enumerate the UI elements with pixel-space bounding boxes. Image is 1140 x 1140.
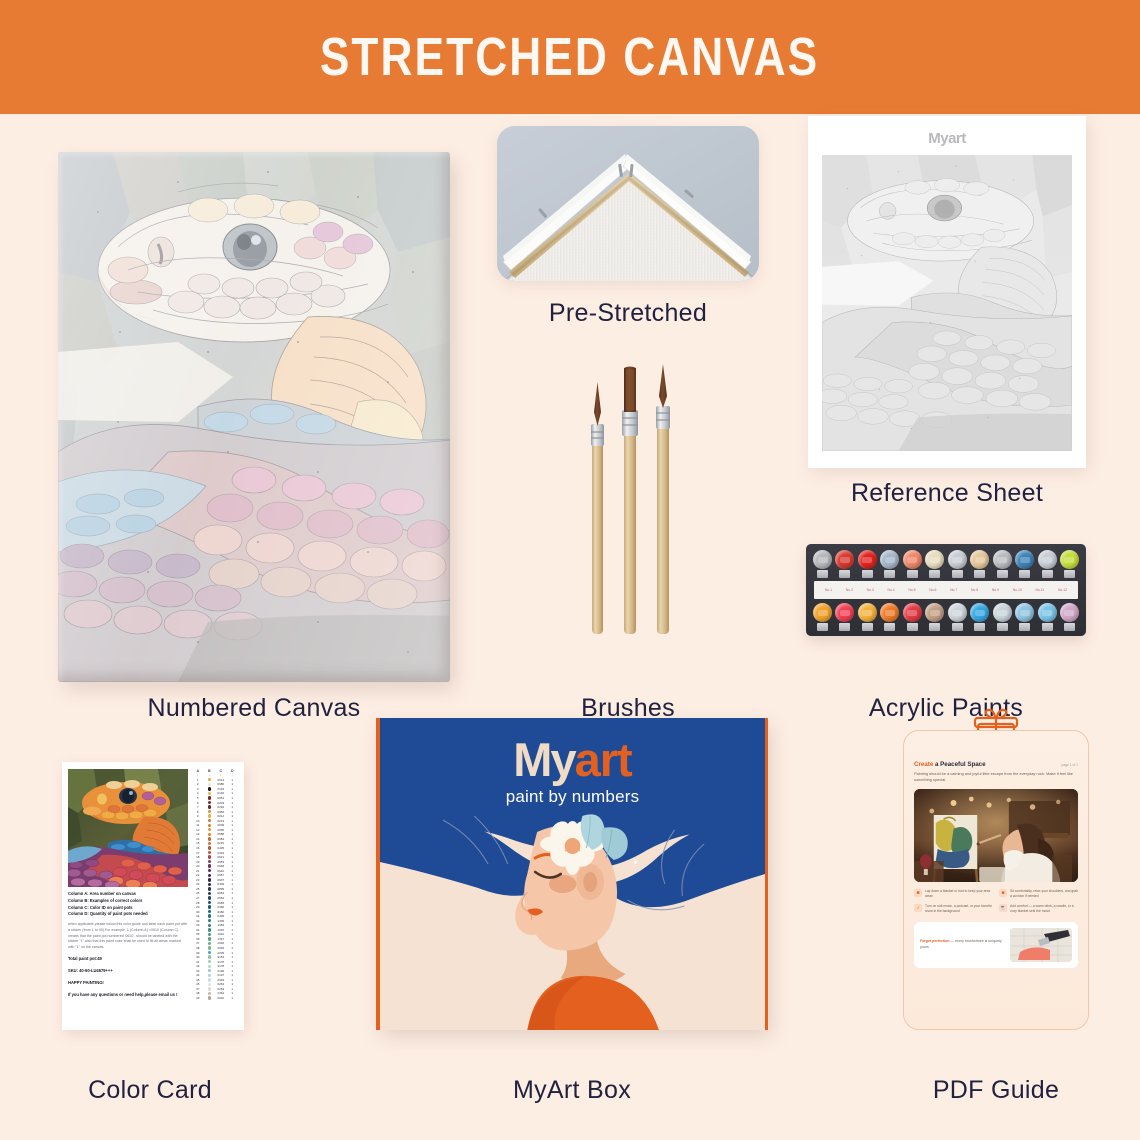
pdf-guide-heading: Create a Peaceful Space page 1 of 1	[914, 761, 1078, 768]
color-swatch-dot	[208, 924, 211, 927]
canvas-corner-illustration	[497, 126, 759, 281]
color-swatch-dot	[208, 819, 211, 822]
paint-pot-tab	[1019, 623, 1030, 631]
color-row-swatch	[204, 955, 216, 958]
color-row-qty: 1	[227, 869, 239, 873]
paint-pot-lid	[1038, 603, 1057, 622]
color-row-qty: 1	[227, 810, 239, 814]
color-row-area: 47	[192, 987, 204, 991]
color-row-swatch	[204, 783, 216, 786]
color-row-swatch	[204, 842, 216, 845]
product-pre-stretched[interactable]	[497, 126, 759, 306]
color-swatch-dot	[208, 992, 211, 995]
color-row-swatch	[204, 910, 216, 913]
color-row-area: 9	[192, 814, 204, 818]
color-row-swatch	[204, 937, 216, 940]
paint-pot[interactable]	[1015, 550, 1034, 577]
color-row-qty: 1	[227, 960, 239, 964]
paint-pot-lid	[903, 550, 922, 569]
pdf-tip-icon: ■	[914, 889, 922, 897]
color-row-swatch	[204, 864, 216, 867]
color-row-qty: 1	[227, 964, 239, 968]
color-row-id: 0009	[215, 823, 227, 827]
color-row-area: 44	[192, 973, 204, 977]
paint-pot-lid	[1015, 603, 1034, 622]
paint-pot-tab	[1019, 570, 1030, 578]
paint-pot-tab	[839, 623, 850, 631]
paint-pot[interactable]	[993, 550, 1012, 577]
color-row-qty: 1	[227, 969, 239, 973]
pdf-tip-text: Turn on soft music, a podcast, or your f…	[925, 904, 993, 914]
color-row-area: 23	[192, 878, 204, 882]
color-swatch-dot	[208, 883, 211, 886]
color-swatch-dot	[208, 892, 211, 895]
color-row-id: 1359	[215, 923, 227, 927]
paint-pot-lid	[948, 603, 967, 622]
color-row-swatch	[204, 969, 216, 972]
color-row-area: 19	[192, 860, 204, 864]
color-row-qty: 1	[227, 928, 239, 932]
color-row-id: 0654	[215, 896, 227, 900]
snake-color-artwork	[68, 769, 188, 887]
color-row-area: 29	[192, 905, 204, 909]
color-row-area: 28	[192, 901, 204, 905]
color-row-id: 2002	[215, 941, 227, 945]
color-swatch-dot	[208, 842, 211, 845]
color-swatch-dot	[208, 965, 211, 968]
color-row-swatch	[204, 805, 216, 808]
logo-art-text: art	[575, 733, 632, 786]
color-row-swatch	[204, 992, 216, 995]
pdf-tip-text: Add comfort — a warm drink, a candle, or…	[1010, 904, 1078, 914]
paint-pot-tab	[907, 623, 918, 631]
paint-pot-lid	[835, 603, 854, 622]
color-row-area: 24	[192, 882, 204, 886]
paint-pot-lid	[813, 603, 832, 622]
reference-sheet-logo: Myart	[822, 130, 1072, 147]
color-card-table: ABCD ↓ ↓ ↓ ↓ 106131209801301341401461500…	[192, 769, 238, 1023]
color-swatch-dot	[208, 978, 211, 981]
caption-pdf-guide: PDF Guide	[900, 1076, 1092, 1105]
color-row-area: 45	[192, 978, 204, 982]
color-row-swatch	[204, 919, 216, 922]
color-swatch-dot	[208, 801, 211, 804]
brush-flat-wide	[622, 367, 638, 635]
color-row-swatch	[204, 928, 216, 931]
paint-pot[interactable]	[903, 603, 922, 630]
color-row-qty: 1	[227, 932, 239, 936]
color-row-id: 0215	[215, 841, 227, 845]
color-swatch-dot	[208, 833, 211, 836]
paint-pot[interactable]	[1060, 550, 1079, 577]
color-row-swatch	[204, 828, 216, 831]
legend-line-b: Column B: Examples of correct colors	[68, 898, 188, 905]
color-row-id: 0895	[215, 887, 227, 891]
color-row-area: 48	[192, 991, 204, 995]
color-row-id: 2049	[215, 978, 227, 982]
paint-pot[interactable]	[858, 550, 877, 577]
paint-label-code: No.2	[846, 588, 853, 592]
color-row-qty: 1	[227, 778, 239, 782]
reference-sheet-paper: Myart	[808, 116, 1086, 468]
myart-box-subtitle: paint by numbers	[380, 787, 765, 807]
color-swatch-dot	[208, 874, 211, 877]
color-row-qty: 1	[227, 851, 239, 855]
color-row-qty: 1	[227, 941, 239, 945]
color-row-qty: 1	[227, 882, 239, 886]
paint-pot[interactable]	[925, 550, 944, 577]
paint-pot[interactable]	[970, 603, 989, 630]
paint-pot-lid	[993, 603, 1012, 622]
paint-pot-tab	[817, 623, 828, 631]
color-row-qty: 1	[227, 891, 239, 895]
paint-pot[interactable]	[970, 550, 989, 577]
color-row-qty: 1	[227, 987, 239, 991]
paint-label-code: No.8	[971, 588, 978, 592]
color-swatch-dot	[208, 974, 211, 977]
color-row-id: 2005	[215, 951, 227, 955]
color-row-swatch	[204, 983, 216, 986]
snake-pbn-artwork	[58, 152, 450, 682]
pdf-tip-item: ☕Add comfort — a warm drink, a candle, o…	[999, 904, 1078, 914]
color-row-id: 0012	[215, 814, 227, 818]
color-row-id: 0942	[215, 869, 227, 873]
color-card-artwork	[68, 769, 188, 887]
paint-tray: No.1No.2No.3No.4No.5No.6No.7No.8No.9No.1…	[806, 544, 1086, 636]
paint-pot-row-top	[811, 550, 1081, 577]
pdf-guide-photo	[914, 789, 1078, 882]
paint-pot[interactable]	[925, 603, 944, 630]
color-swatch-dot	[208, 933, 211, 936]
color-row-qty: 1	[227, 951, 239, 955]
color-row-area: 14	[192, 837, 204, 841]
paint-pot-tab	[952, 623, 963, 631]
color-row-area: 41	[192, 960, 204, 964]
color-row-area: 6	[192, 801, 204, 805]
color-row-area: 1	[192, 778, 204, 782]
color-row-area: 33	[192, 923, 204, 927]
paint-pot[interactable]	[835, 603, 854, 630]
paint-pot-tab	[817, 570, 828, 578]
color-row-swatch	[204, 833, 216, 836]
legend-line-d: Column D: Quantity of paint pots needed	[68, 911, 188, 918]
color-row-id: 2010	[215, 996, 227, 1000]
color-row-id: 2049	[215, 946, 227, 950]
paint-pot[interactable]	[1015, 603, 1034, 630]
color-row-qty: 1	[227, 973, 239, 977]
pdf-tip-item: ♪Turn on soft music, a podcast, or your …	[914, 904, 993, 914]
color-swatch-dot	[208, 910, 211, 913]
pdf-tip-icon: ■	[999, 889, 1007, 897]
color-row-area: 16	[192, 846, 204, 850]
color-row-area: 22	[192, 873, 204, 877]
color-row-swatch	[204, 914, 216, 917]
color-row-id: 0588	[215, 832, 227, 836]
color-row-qty: 1	[227, 919, 239, 923]
color-row-swatch	[204, 987, 216, 990]
product-acrylic-paints[interactable]: No.1No.2No.3No.4No.5No.6No.7No.8No.9No.1…	[806, 544, 1086, 684]
paint-pot-lid	[880, 603, 899, 622]
color-row-id: 1315	[215, 928, 227, 932]
color-row-area: 17	[192, 851, 204, 855]
color-row-qty: 1	[227, 791, 239, 795]
color-row-area: 4	[192, 791, 204, 795]
color-row-swatch	[204, 901, 216, 904]
paint-pot-lid	[1015, 550, 1034, 569]
pdf-guide-content: Create a Peaceful Space page 1 of 1 Pain…	[914, 761, 1078, 968]
paint-pot[interactable]	[993, 603, 1012, 630]
color-row-id: 0953	[215, 860, 227, 864]
color-row-swatch	[204, 978, 216, 981]
color-row-area: 31	[192, 914, 204, 918]
color-row-qty: 1	[227, 787, 239, 791]
paint-pot[interactable]	[948, 550, 967, 577]
paint-pot[interactable]	[880, 550, 899, 577]
color-row-swatch	[204, 819, 216, 822]
color-row-swatch	[204, 942, 216, 945]
color-row-qty: 1	[227, 855, 239, 859]
paint-pot[interactable]	[880, 603, 899, 630]
color-row-qty: 1	[227, 982, 239, 986]
color-row-area: 46	[192, 982, 204, 986]
color-swatch-dot	[208, 864, 211, 867]
color-swatch-dot	[208, 814, 211, 817]
color-row-qty: 1	[227, 946, 239, 950]
paint-pot-tab	[1042, 623, 1053, 631]
color-row-id: 0482	[215, 910, 227, 914]
color-row-id: 1912	[215, 932, 227, 936]
color-card-legend: Column A: Area number on canvas Column B…	[68, 891, 188, 999]
color-swatch-dot	[208, 905, 211, 908]
woman-painting-photo	[914, 789, 1078, 882]
color-card-paragraph: when applicable,please follow this color…	[68, 922, 188, 951]
myart-box-lid: Myart paint by numbers	[376, 718, 768, 1030]
color-swatch-dot	[208, 846, 211, 849]
color-row-area: 42	[192, 964, 204, 968]
color-row-qty: 1	[227, 914, 239, 918]
pdf-tip-text: Sit comfortably, relax your shoulders, a…	[1010, 889, 1078, 899]
paint-pot-lid	[970, 550, 989, 569]
color-row-id: 0980	[215, 782, 227, 786]
paint-pot-lid	[970, 603, 989, 622]
paint-pot[interactable]	[813, 550, 832, 577]
product-pdf-guide[interactable]: Create a Peaceful Space page 1 of 1 Pain…	[903, 730, 1089, 1092]
paint-pot[interactable]	[948, 603, 967, 630]
color-row-id: 2196	[215, 969, 227, 973]
color-row-swatch	[204, 851, 216, 854]
paint-pot-lid	[903, 603, 922, 622]
paint-pot-lid	[1060, 550, 1079, 569]
paint-pot-tab	[884, 623, 895, 631]
color-row-area: 12	[192, 828, 204, 832]
product-color-card[interactable]: Column A: Area number on canvas Column B…	[62, 762, 244, 1092]
color-row-id: 0621	[215, 855, 227, 859]
paint-pot-lid	[858, 603, 877, 622]
color-row-area: 25	[192, 887, 204, 891]
color-row-id: 1327	[215, 937, 227, 941]
color-row-swatch	[204, 837, 216, 840]
color-row-swatch	[204, 874, 216, 877]
color-swatch-dot	[208, 805, 211, 808]
paint-label-code: No.3	[867, 588, 874, 592]
color-row-swatch	[204, 974, 216, 977]
color-row-qty: 1	[227, 860, 239, 864]
color-row-id: 0263	[215, 982, 227, 986]
color-swatch-dot	[208, 919, 211, 922]
color-row-swatch	[204, 787, 216, 790]
color-row-qty: 1	[227, 923, 239, 927]
color-swatch-dot	[208, 960, 211, 963]
pdf-note-highlight: Forget perfection	[920, 939, 950, 943]
brush-stroke-photo	[1010, 928, 1072, 962]
color-row-swatch	[204, 965, 216, 968]
caption-reference-sheet: Reference Sheet	[808, 479, 1086, 508]
color-swatch-dot	[208, 855, 211, 858]
color-row-qty: 1	[227, 828, 239, 832]
color-swatch-dot	[208, 824, 211, 827]
paint-pot[interactable]	[903, 550, 922, 577]
caption-color-card: Color Card	[30, 1076, 270, 1105]
color-row-area: 26	[192, 891, 204, 895]
myart-logo: Myart	[380, 732, 765, 787]
color-row-id: 0203	[215, 801, 227, 805]
paint-label-code: No.10	[1013, 588, 1022, 592]
product-myart-box[interactable]: Myart paint by numbers	[376, 718, 768, 1093]
color-row-id: 0084	[215, 837, 227, 841]
color-row-qty: 1	[227, 901, 239, 905]
product-numbered-canvas[interactable]	[58, 152, 450, 682]
color-row-swatch	[204, 846, 216, 849]
color-row-swatch	[204, 878, 216, 881]
paint-pot-row-bottom	[811, 603, 1081, 630]
product-brushes[interactable]	[500, 354, 756, 654]
paint-label-code: No.9	[992, 588, 999, 592]
color-row-area: 27	[192, 896, 204, 900]
pdf-guide-note: Forget perfection — every brushstroke is…	[914, 922, 1078, 968]
color-row-qty: 1	[227, 905, 239, 909]
pdf-tip-text: Lay down a blanket or mat to keep your a…	[925, 889, 993, 899]
paint-label-code: No.11	[1035, 588, 1044, 592]
color-row-id: 3176	[215, 960, 227, 964]
paint-label-code: No.6	[929, 588, 936, 592]
color-row-swatch	[204, 796, 216, 799]
paint-pot[interactable]	[1060, 603, 1079, 630]
caption-acrylic-paints: Acrylic Paints	[806, 694, 1086, 723]
color-row-area: 36	[192, 937, 204, 941]
paint-pot-tab	[952, 570, 963, 578]
color-row-qty: 1	[227, 796, 239, 800]
color-swatch-dot	[208, 937, 211, 940]
color-row-qty: 1	[227, 978, 239, 982]
color-row-area: 34	[192, 928, 204, 932]
color-row-swatch	[204, 824, 216, 827]
color-row-swatch	[204, 855, 216, 858]
page-header: STRETCHED CANVAS	[0, 0, 1140, 114]
color-row-area: 18	[192, 855, 204, 859]
pdf-note-image	[1010, 928, 1072, 962]
color-row-qty: 1	[227, 864, 239, 868]
pdf-heading-rest: a Peaceful Space	[933, 761, 985, 768]
color-row-area: 7	[192, 805, 204, 809]
paint-pot-lid	[925, 603, 944, 622]
color-row-swatch	[204, 792, 216, 795]
paint-pot[interactable]	[835, 550, 854, 577]
color-swatch-dot	[208, 787, 211, 790]
color-row-area: 15	[192, 841, 204, 845]
color-row-id: 2197	[215, 973, 227, 977]
brush-round-fine	[656, 364, 670, 634]
brushes-illustration	[500, 354, 756, 639]
paint-pot[interactable]	[858, 603, 877, 630]
color-row-area: 32	[192, 919, 204, 923]
color-card-contact: If you have any questions or need help,p…	[68, 992, 188, 999]
color-swatch-dot	[208, 996, 211, 999]
color-row-qty: 1	[227, 896, 239, 900]
pdf-heading-highlight: Create	[914, 761, 933, 768]
color-card-sku: SKU: 40-50-LU4679+++	[68, 968, 188, 975]
color-row-qty: 1	[227, 873, 239, 877]
color-swatch-dot	[208, 778, 211, 781]
product-reference-sheet[interactable]: Myart	[808, 116, 1086, 506]
paint-pot-lid	[948, 550, 967, 569]
color-row-qty: 1	[227, 823, 239, 827]
paint-pot-lid	[1060, 603, 1079, 622]
color-row-swatch	[204, 905, 216, 908]
color-row-swatch	[204, 892, 216, 895]
color-row-id: 0051	[215, 796, 227, 800]
color-swatch-dot	[208, 946, 211, 949]
color-row-id: 1309	[215, 919, 227, 923]
color-row-id: 0466	[215, 905, 227, 909]
pdf-guide-body: Painting should be a calming and joyful …	[914, 771, 1078, 783]
legend-line-c: Column C: Color ID on paint pots	[68, 905, 188, 912]
paint-pot[interactable]	[1038, 550, 1057, 577]
color-swatch-dot	[208, 796, 211, 799]
color-swatch-dot	[208, 942, 211, 945]
color-row-swatch	[204, 933, 216, 936]
color-row-area: 2	[192, 782, 204, 786]
color-row-id: 3153	[215, 955, 227, 959]
paint-pot[interactable]	[813, 603, 832, 630]
color-row-area: 20	[192, 864, 204, 868]
legend-line-a: Column A: Area number on canvas	[68, 891, 188, 898]
color-row-swatch	[204, 778, 216, 781]
color-row-id: 0953	[215, 891, 227, 895]
paint-pot-tab	[862, 623, 873, 631]
paint-pot-tab	[862, 570, 873, 578]
color-row-swatch	[204, 946, 216, 949]
brush-round-small	[591, 382, 604, 634]
color-row-area: 11	[192, 823, 204, 827]
color-row-qty: 1	[227, 878, 239, 882]
color-row-qty: 1	[227, 805, 239, 809]
page-title: STRETCHED CANVAS	[320, 26, 819, 88]
paint-pot[interactable]	[1038, 603, 1057, 630]
pdf-note-text: Forget perfection — every brushstroke is…	[920, 939, 1004, 950]
canvas-frame	[58, 152, 450, 682]
color-row-area: 3	[192, 787, 204, 791]
paint-pot-tab	[929, 623, 940, 631]
paint-pot-tab	[1064, 623, 1075, 631]
color-row-qty: 1	[227, 837, 239, 841]
color-row-area: 10	[192, 819, 204, 823]
color-swatch-dot	[208, 887, 211, 890]
color-row-swatch	[204, 951, 216, 954]
paint-label-code: No.12	[1058, 588, 1067, 592]
color-row-qty: 1	[227, 955, 239, 959]
pdf-page-label: page 1 of 1	[1062, 763, 1079, 767]
pdf-tip-item: ■Lay down a blanket or mat to keep your …	[914, 889, 993, 899]
